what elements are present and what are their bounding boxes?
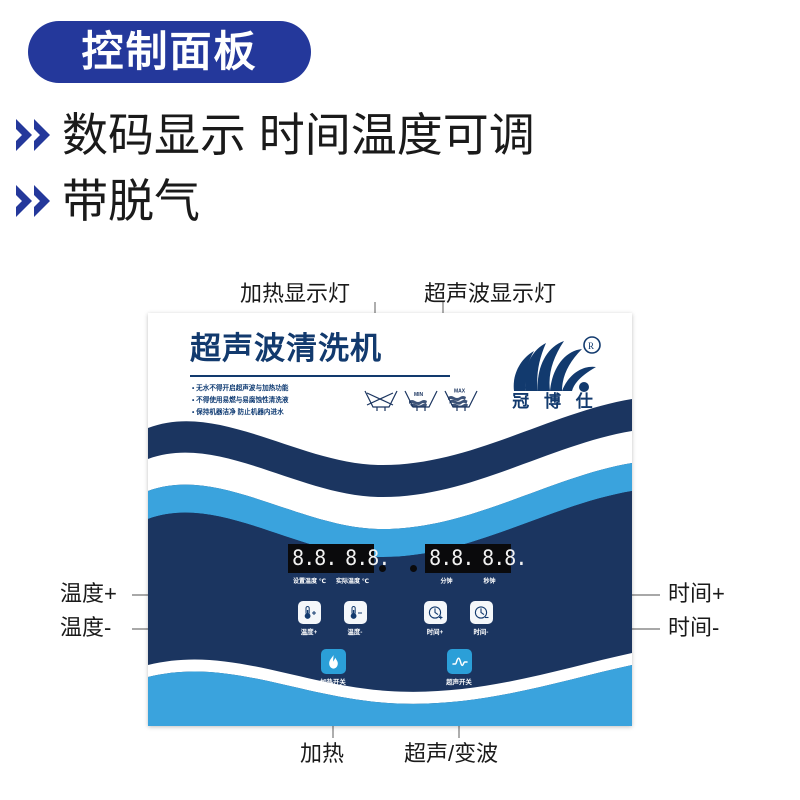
actual-temp-label: 实际温度 ℃ <box>336 576 369 585</box>
set-temp-digits: 8.8. <box>288 548 341 569</box>
ultrasonic-indicator-lamp <box>410 565 417 572</box>
callout-temp-minus: 温度- <box>60 617 111 639</box>
temp-minus-label: 温度- <box>332 627 378 636</box>
heat-switch-label: 加热开关 <box>303 677 363 686</box>
temp-plus-button[interactable] <box>298 601 321 624</box>
temp-plus-label: 温度+ <box>286 627 332 636</box>
badge-label: 控制面板 <box>81 31 257 73</box>
flame-icon <box>326 654 341 670</box>
waveform-icon <box>452 655 468 669</box>
feature-row-2: 带脱气 <box>14 178 200 224</box>
seconds-label: 秒钟 <box>483 576 495 585</box>
thermometer-plus-icon <box>302 605 317 620</box>
time-minus-label: 时间- <box>458 627 504 636</box>
brand-name: 冠 博 仕 <box>496 393 614 410</box>
svg-text:MAX: MAX <box>454 389 466 395</box>
callout-time-plus: 时间+ <box>668 583 725 605</box>
heat-switch-button[interactable] <box>321 649 346 674</box>
time-minus-button[interactable] <box>470 601 493 624</box>
ultrasonic-switch-label: 超声开关 <box>429 677 489 686</box>
svg-text:R: R <box>588 341 594 351</box>
callout-ultrasonic: 超声/变波 <box>404 743 498 765</box>
temperature-display: 8.8. 8.8. <box>288 544 374 573</box>
feature-row-1: 数码显示 时间温度可调 <box>14 112 535 158</box>
title-divider <box>190 375 450 377</box>
control-panel-image: 超声波清洗机 无水不得开启超声波与加热功能 不得使用易燃与易腐蚀性清洗液 保持机… <box>148 313 632 726</box>
feature-label-1: 数码显示 时间温度可调 <box>62 112 535 158</box>
temperature-display-labels: 设置温度 ℃ 实际温度 ℃ <box>288 576 374 585</box>
double-chevron-right-icon <box>14 115 56 155</box>
control-panel-badge: 控制面板 <box>28 21 311 83</box>
minutes-label: 分钟 <box>440 576 452 585</box>
clock-plus-icon <box>428 605 444 621</box>
seconds-digits: 8.8. <box>478 548 531 569</box>
timer-display-labels: 分钟 秒钟 <box>425 576 511 585</box>
svg-text:MIN: MIN <box>414 392 424 398</box>
feature-label-2: 带脱气 <box>62 178 200 224</box>
thermometer-minus-icon <box>348 605 363 620</box>
callout-temp-plus: 温度+ <box>60 583 117 605</box>
ultrasonic-switch-button[interactable] <box>447 649 472 674</box>
callout-heat: 加热 <box>300 743 344 765</box>
callout-ultrasonic-lamp: 超声波显示灯 <box>424 283 556 305</box>
double-chevron-right-icon <box>14 181 56 221</box>
callout-heat-lamp: 加热显示灯 <box>240 283 350 305</box>
time-plus-button[interactable] <box>424 601 447 624</box>
temp-minus-button[interactable] <box>344 601 367 624</box>
callout-time-minus: 时间- <box>668 617 719 639</box>
set-temp-label: 设置温度 ℃ <box>293 576 326 585</box>
heat-indicator-lamp <box>379 565 386 572</box>
time-plus-label: 时间+ <box>412 627 458 636</box>
timer-display: 8.8. 8.8. <box>425 544 511 573</box>
water-level-baskets-icon: MIN MAX <box>363 385 483 415</box>
panel-title: 超声波清洗机 <box>190 333 382 364</box>
clock-minus-icon <box>474 605 490 621</box>
minutes-digits: 8.8. <box>425 548 478 569</box>
